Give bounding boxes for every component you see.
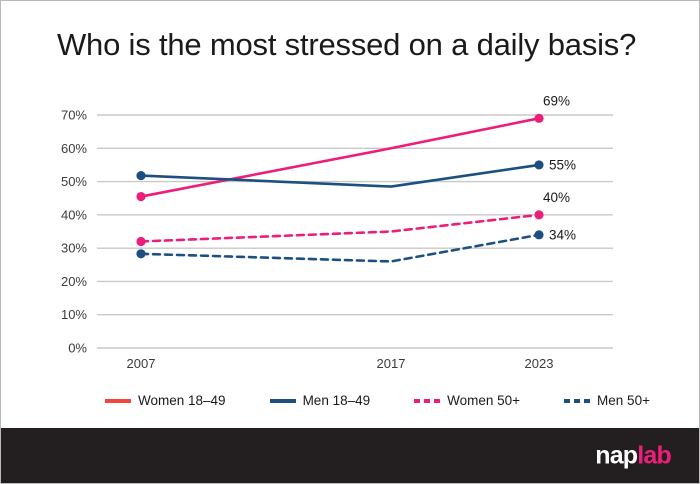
- chart-legend: Women 18–49 Men 18–49 Women 50+ Men 50+: [105, 393, 650, 408]
- data-point-marker: [136, 237, 145, 246]
- data-point-marker: [534, 114, 543, 123]
- naplab-logo: naplab: [595, 441, 671, 470]
- y-axis-tick-label: 70%: [61, 108, 87, 123]
- data-point-marker: [534, 210, 543, 219]
- legend-swatch-solid-icon: [270, 399, 296, 403]
- logo-text-primary: nap: [595, 441, 637, 469]
- data-point-marker: [136, 192, 145, 201]
- legend-item-label: Men 50+: [597, 393, 650, 408]
- logo-text-secondary: lab: [637, 441, 671, 469]
- y-axis-tick-label: 20%: [61, 274, 87, 289]
- y-axis-tick-label: 30%: [61, 241, 87, 256]
- y-axis-tick-label: 40%: [61, 207, 87, 222]
- infographic-card: Who is the most stressed on a daily basi…: [0, 0, 700, 484]
- y-axis-tick-label: 50%: [61, 174, 87, 189]
- data-point-marker: [534, 230, 543, 239]
- line-chart-plot: 0%10%20%30%40%50%60%70% 200720172023 69%…: [1, 1, 700, 381]
- legend-item-women-18-49[interactable]: Women 18–49: [105, 393, 226, 408]
- data-point-marker: [136, 171, 145, 180]
- data-value-label: 69%: [543, 93, 570, 108]
- y-axis-tick-label: 0%: [68, 341, 87, 356]
- data-series-group: [136, 114, 543, 262]
- y-axis-tick-labels: 0%10%20%30%40%50%60%70%: [61, 108, 87, 356]
- legend-item-label: Women 50+: [447, 393, 520, 408]
- footer-bar: naplab: [1, 428, 700, 483]
- series-line: [141, 215, 539, 242]
- data-value-label: 40%: [543, 190, 570, 205]
- y-axis-tick-label: 10%: [61, 307, 87, 322]
- legend-item-label: Women 18–49: [138, 393, 226, 408]
- x-axis-tick-labels: 200720172023: [127, 356, 554, 371]
- legend-item-women-50-plus[interactable]: Women 50+: [414, 393, 520, 408]
- series-line: [141, 165, 539, 187]
- data-value-label: 34%: [549, 227, 576, 242]
- data-value-label: 55%: [549, 157, 576, 172]
- data-point-marker: [534, 160, 543, 169]
- legend-item-label: Men 18–49: [303, 393, 371, 408]
- data-point-marker: [136, 249, 145, 258]
- legend-swatch-dashed-icon: [414, 399, 440, 403]
- x-axis-tick-label: 2017: [377, 356, 406, 371]
- legend-swatch-solid-icon: [105, 399, 131, 403]
- gridlines-group: [97, 115, 613, 348]
- x-axis-tick-label: 2023: [525, 356, 554, 371]
- legend-swatch-dashed-icon: [564, 399, 590, 403]
- y-axis-tick-label: 60%: [61, 141, 87, 156]
- x-axis-tick-label: 2007: [127, 356, 156, 371]
- legend-item-men-50-plus[interactable]: Men 50+: [564, 393, 650, 408]
- legend-item-men-18-49[interactable]: Men 18–49: [270, 393, 371, 408]
